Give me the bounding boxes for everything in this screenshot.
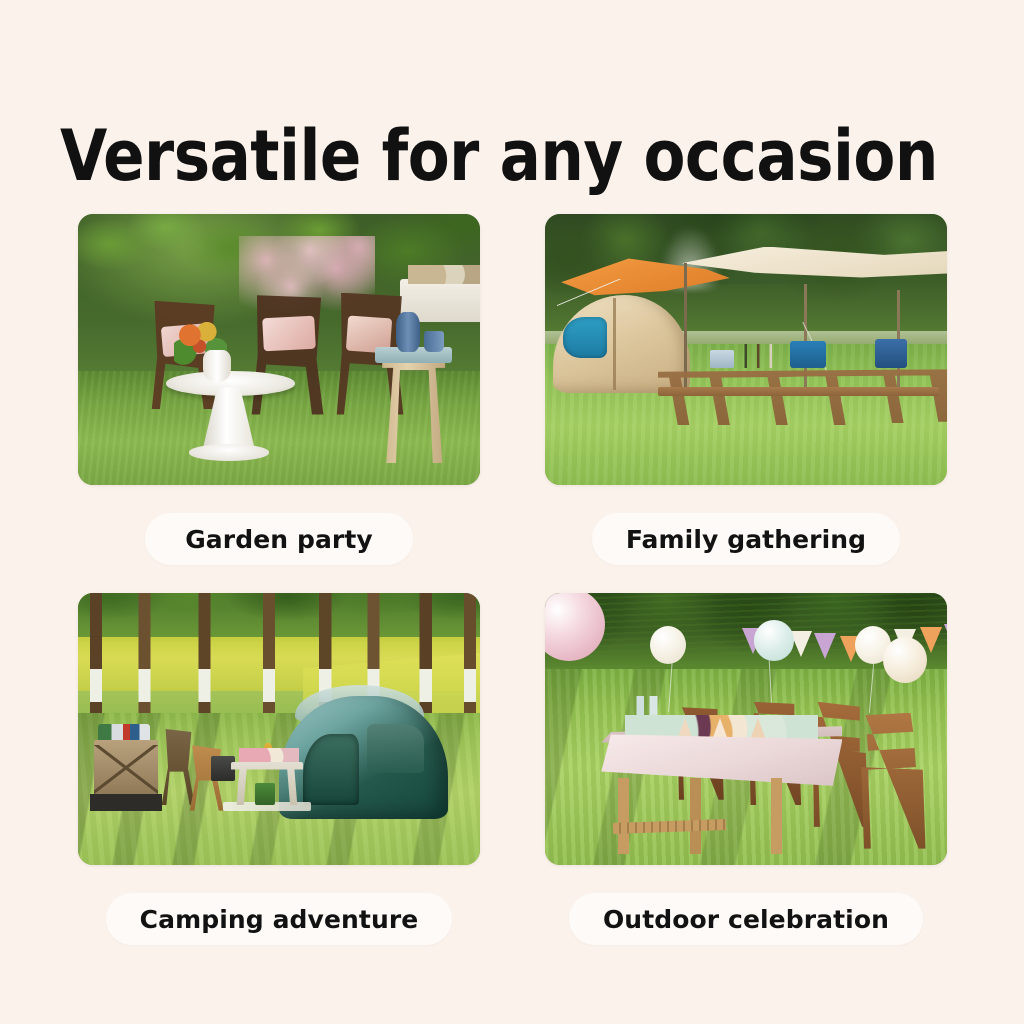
occasion-card-outdoor-celebration[interactable]: Outdoor celebration: [545, 593, 947, 945]
occasion-card-garden-party[interactable]: Garden party: [78, 214, 480, 565]
bunting-flag-purple-3: [944, 624, 947, 650]
cooler-box-navy: [875, 339, 907, 369]
outdoor-celebration-scene: [545, 593, 947, 865]
whitewashed-trunk-bands: [78, 669, 480, 702]
balloon-mint: [754, 620, 794, 661]
photo-camping-adventure: [78, 593, 480, 865]
bunting-flag-purple-2: [814, 633, 836, 659]
caption-label: Family gathering: [626, 527, 866, 552]
wagon-wheels: [90, 794, 162, 810]
occasion-card-family-gathering[interactable]: Family gathering: [545, 214, 947, 565]
occasion-grid: Garden party: [78, 214, 947, 974]
tent-window: [563, 317, 607, 358]
blue-cup: [424, 331, 444, 353]
cooler-box-light: [710, 350, 734, 369]
photo-garden-party: [78, 214, 480, 485]
tent-seam: [613, 298, 615, 390]
balloon-cream-far-right: [883, 637, 927, 683]
photo-outdoor-celebration: [545, 593, 947, 865]
occasion-card-camping-adventure[interactable]: Camping adventure: [78, 593, 480, 945]
caption-pill-camping-adventure: Camping adventure: [106, 893, 453, 945]
guy-line-left: [557, 279, 621, 306]
cooler-box-blue: [790, 341, 826, 368]
tent-window: [367, 724, 423, 773]
caption-pill-garden-party: Garden party: [145, 513, 413, 565]
caption-label: Garden party: [185, 527, 373, 552]
wagon-frame: [94, 745, 158, 794]
blue-jug: [396, 312, 420, 353]
family-gathering-scene: [545, 214, 947, 485]
page-title: Versatile for any occasion: [60, 115, 943, 197]
caption-pill-outdoor-celebration: Outdoor celebration: [569, 893, 923, 945]
back-table-items: [408, 265, 480, 284]
white-pitcher: [203, 350, 231, 383]
table-legs: [609, 778, 834, 854]
pedestal-table-base: [189, 444, 269, 460]
tent-door: [303, 734, 359, 805]
pink-cushion-middle: [262, 316, 316, 351]
caption-label: Outdoor celebration: [603, 907, 889, 932]
party-hat-3: [750, 718, 766, 740]
green-bag: [255, 783, 275, 805]
garden-party-scene: [78, 214, 480, 485]
picnic-bench: [658, 387, 939, 395]
camping-adventure-scene: [78, 593, 480, 865]
bottles-on-table: [738, 344, 786, 368]
party-hats: [666, 713, 803, 740]
caption-label: Camping adventure: [140, 907, 419, 932]
party-hat-2: [712, 718, 728, 740]
photo-family-gathering: [545, 214, 947, 485]
promo-banner: Versatile for any occasion: [0, 0, 1024, 1024]
caption-pill-family-gathering: Family gathering: [592, 513, 900, 565]
balloon-white-left: [650, 626, 686, 664]
